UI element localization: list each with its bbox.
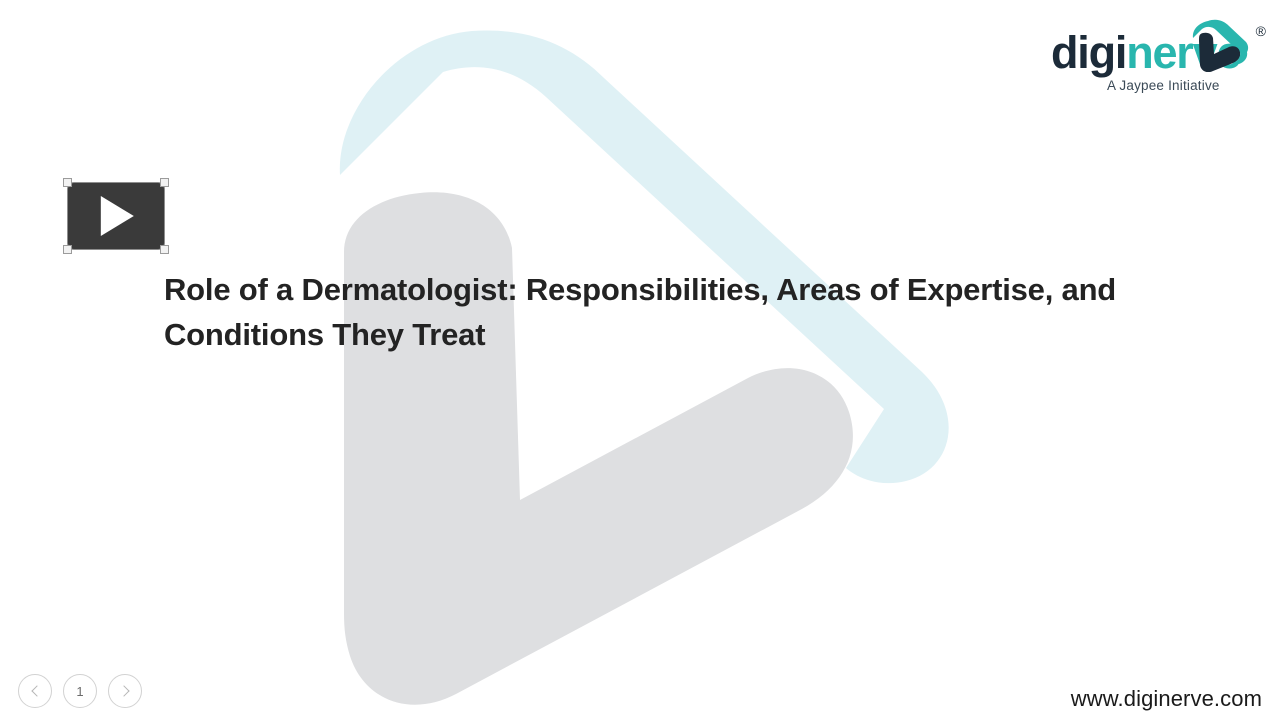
resize-handle-bottom-left[interactable] (64, 246, 71, 253)
slide-title: Role of a Dermatologist: Responsibilitie… (164, 268, 1124, 358)
brand-name-part-one: digi (1051, 27, 1126, 78)
previous-slide-button[interactable] (18, 674, 52, 708)
resize-handle-bottom-right[interactable] (161, 246, 168, 253)
resize-handle-top-right[interactable] (161, 179, 168, 186)
chevron-left-icon (31, 685, 42, 696)
presentation-slide: diginerve ® A Jaypee Initiative Role of … (0, 0, 1280, 720)
footer-website-url: www.diginerve.com (1071, 686, 1262, 712)
resize-handle-top-left[interactable] (64, 179, 71, 186)
play-icon (101, 196, 134, 236)
next-slide-button[interactable] (108, 674, 142, 708)
slide-pager: 1 (18, 674, 142, 708)
brand-tagline: A Jaypee Initiative (1107, 78, 1220, 93)
background-watermark (0, 0, 1280, 720)
diginerve-arrow-icon (1188, 16, 1250, 72)
chevron-right-icon (118, 685, 129, 696)
watermark-teal-shape (340, 30, 949, 483)
page-number-indicator[interactable]: 1 (63, 674, 97, 708)
video-play-button[interactable] (68, 183, 164, 249)
registered-trademark-icon: ® (1256, 24, 1266, 38)
brand-logo: diginerve ® A Jaypee Initiative (1051, 20, 1266, 98)
